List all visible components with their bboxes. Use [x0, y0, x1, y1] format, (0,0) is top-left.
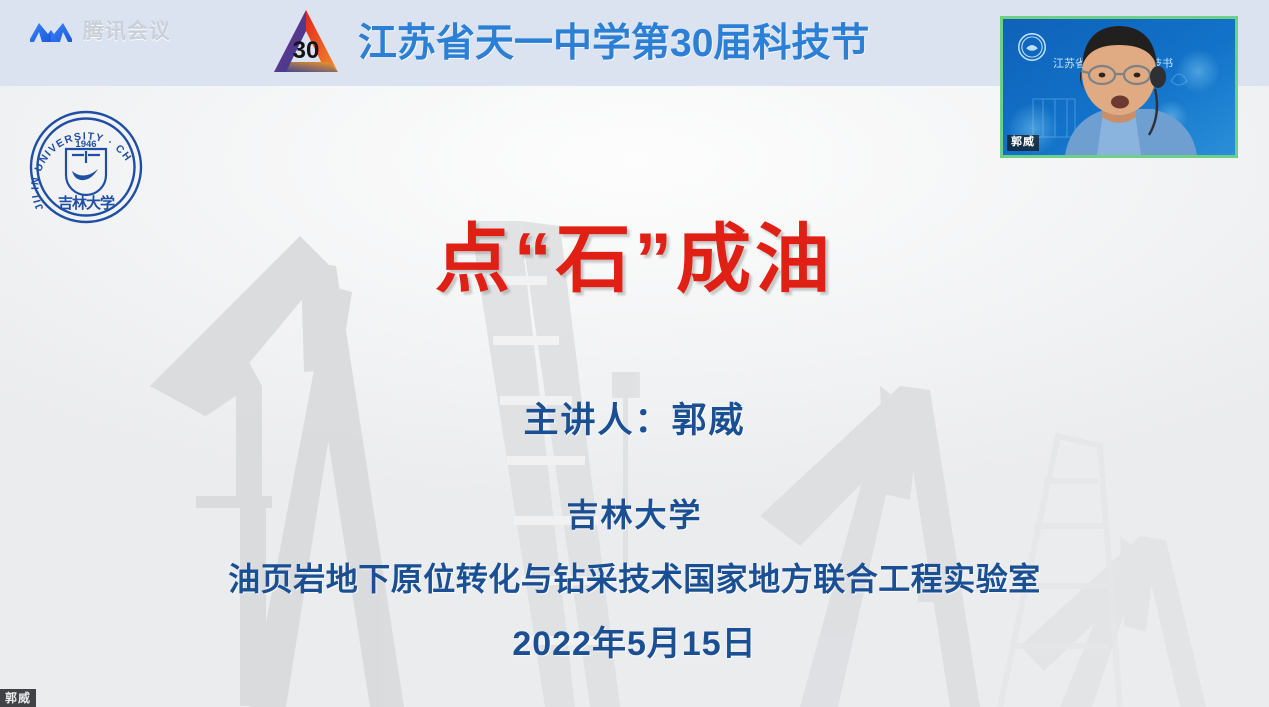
participant-video-tile[interactable]: 江苏省天 技书: [1000, 16, 1238, 158]
oil-pumpjack-background-illustration: [0, 86, 1269, 707]
participant-name-badge: 郭威: [1007, 135, 1039, 151]
screen-sharer-name-badge: 郭威: [0, 689, 36, 707]
jilin-university-seal-logo-icon: JILIN UNIVERSITY · CHINA 1946 吉林大学: [22, 105, 150, 229]
tencent-meeting-watermark-label: 腾讯会议: [83, 21, 171, 42]
tencent-meeting-m-logo-icon: [28, 18, 74, 44]
festival-title: 江苏省天一中学第30届科技节: [358, 24, 869, 63]
festival-header: 30 江苏省天一中学第30届科技节: [268, 3, 869, 83]
presentation-slide: JILIN UNIVERSITY · CHINA 1946 吉林大学 点“石”成…: [0, 86, 1269, 707]
slide-laboratory-line: 油页岩地下原位转化与钻采技术国家地方联合工程实验室: [0, 563, 1269, 595]
svg-text:1946: 1946: [75, 139, 96, 150]
slide-main-title: 点“石”成油: [0, 222, 1269, 297]
tencent-meeting-watermark: 腾讯会议: [28, 18, 171, 44]
meeting-screen-share-view: 腾讯会议: [0, 0, 1269, 707]
slide-speaker-line: 主讲人：郭威: [0, 403, 1269, 438]
svg-text:吉林大学: 吉林大学: [58, 194, 115, 212]
triangle-30-festival-logo-icon: 30: [268, 6, 344, 80]
slide-organization-line: 吉林大学: [0, 499, 1269, 531]
svg-text:30: 30: [293, 37, 320, 64]
slide-date-line: 2022年5月15日: [0, 627, 1269, 661]
